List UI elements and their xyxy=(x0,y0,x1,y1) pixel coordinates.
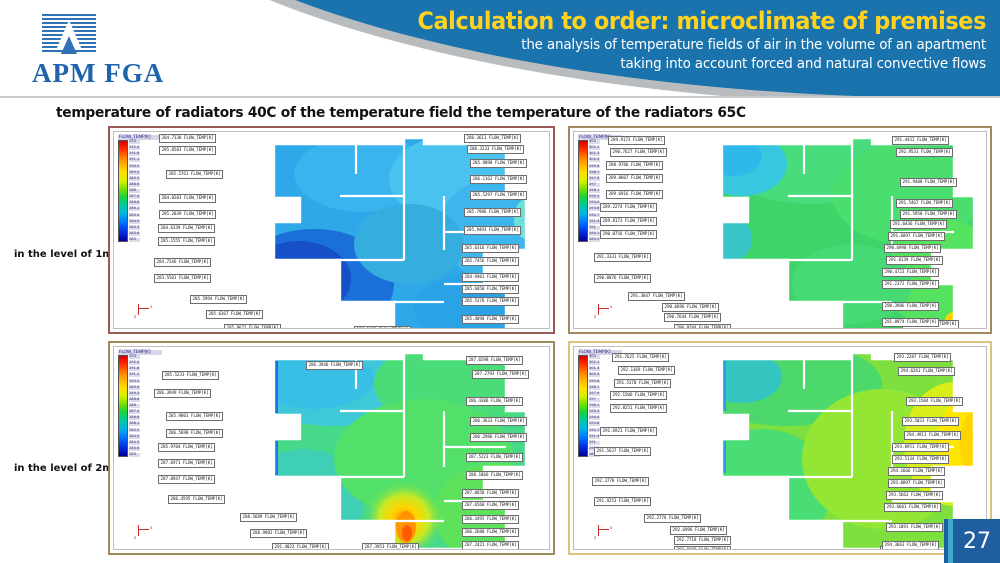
temperature-callout[interactable]: 286.4386 FLOW_TEMP[K] xyxy=(466,397,523,406)
temperature-callout[interactable]: 284.7246 FLOW_TEMP[K] xyxy=(154,258,211,267)
temperature-callout[interactable]: 291.5467 FLOW_TEMP[K] xyxy=(896,199,953,208)
temperature-callout[interactable]: 288.9786 FLOW_TEMP[K] xyxy=(606,161,663,170)
cfd-panel-canvas: FLOW_TEMP[K] 303 302.1 301.3 300.4 299.6… xyxy=(573,131,987,329)
legend-tick-list: 303 302.1 301.3 300.4 299.6 298.7 297.9 … xyxy=(589,140,600,242)
legend-tick: 298.7 xyxy=(589,171,600,175)
temperature-callout[interactable]: 285.5297 FLOW_TEMP[K] xyxy=(470,191,527,200)
cfd-panel-top-right[interactable]: FLOW_TEMP[K] 303 302.1 301.3 300.4 299.6… xyxy=(568,126,992,334)
legend-tick: 291.1 xyxy=(129,158,140,162)
slide-header: APM FGA Calculation to order: microclima… xyxy=(0,0,1000,98)
legend-tick: 301.3 xyxy=(589,367,600,371)
row-label-level-2m: in the level of 2m xyxy=(14,463,113,474)
legend-tick: 291.8 xyxy=(129,152,140,156)
temperature-callout[interactable]: 285.6050 FLOW_TEMP[K] xyxy=(462,285,519,294)
header-title-block: Calculation to order: microclimate of pr… xyxy=(266,6,986,74)
temperature-callout[interactable]: 291.6921 FLOW_TEMP[K] xyxy=(600,427,657,436)
temperature-callout[interactable]: 291.6897 FLOW_TEMP[K] xyxy=(888,232,945,241)
temperature-callout[interactable]: 285.7986 FLOW_TEMP[K] xyxy=(464,208,521,217)
legend-tick: 292.4 xyxy=(129,361,140,365)
temperature-callout[interactable]: 290.8076 FLOW_TEMP[K] xyxy=(594,274,651,283)
legend-tick: 292.7 xyxy=(589,429,600,433)
temperature-callout[interactable]: 291.7625 FLOW_TEMP[K] xyxy=(612,353,669,362)
temperature-callout[interactable]: 293.5663 FLOW_TEMP[K] xyxy=(886,491,943,500)
legend-tick: 289.9 xyxy=(129,386,140,390)
legend-tick: 295.3 xyxy=(589,410,600,414)
legend-tick: 286.1 xyxy=(129,207,140,211)
axis-triad-icon: x z xyxy=(132,523,154,541)
figure-caption: temperature of radiators 40C of the temp… xyxy=(56,105,746,121)
legend-tick: 303 xyxy=(589,140,600,144)
temperature-callout[interactable]: 292.7718 FLOW_TEMP[K] xyxy=(674,536,731,545)
temperature-callout[interactable]: 285.1555 FLOW_TEMP[K] xyxy=(158,237,215,246)
legend-tick: 291.8 xyxy=(129,367,140,371)
legend-tick: 285.5 xyxy=(129,429,140,433)
legend-tick: 288.6 xyxy=(129,183,140,187)
temperature-callout[interactable]: 291.8139 FLOW_TEMP[K] xyxy=(886,256,943,265)
legend-tick: 293 xyxy=(129,355,140,359)
temperature-callout[interactable]: 293.1891 FLOW_TEMP[K] xyxy=(886,523,943,532)
temperature-callout[interactable]: 289.8173 FLOW_TEMP[K] xyxy=(600,217,657,226)
temperature-callout[interactable]: 287.6971 FLOW_TEMP[K] xyxy=(158,459,215,468)
temperature-callout[interactable]: 293.1504 FLOW_TEMP[K] xyxy=(906,397,963,406)
temperature-callout[interactable]: 287.5223 FLOW_TEMP[K] xyxy=(466,453,523,462)
legend-tick: 286.8 xyxy=(129,416,140,420)
color-legend-bottom-left: FLOW_TEMP[K] 293 292.4 291.8 291.1 290.5… xyxy=(118,350,162,457)
temperature-callout[interactable]: 286.3233 FLOW_TEMP[K] xyxy=(467,145,524,154)
legend-tick: 283.6 xyxy=(129,232,140,236)
legend-colorbar xyxy=(118,355,128,457)
legend-tick: 290.5 xyxy=(129,380,140,384)
legend-tick: 284.3 xyxy=(129,441,140,445)
temperature-callout[interactable]: 285.9898 FLOW_TEMP[K] xyxy=(470,159,527,168)
legend-colorbar xyxy=(578,355,588,457)
temperature-callout[interactable]: 291.4023 FLOW_TEMP[K] xyxy=(272,543,329,550)
legend-tick: 285.5 xyxy=(129,214,140,218)
temperature-callout[interactable]: 285.7456 FLOW_TEMP[K] xyxy=(462,257,519,266)
page-subtitle-line-2: taking into account forced and natural c… xyxy=(316,55,986,74)
cfd-panel-bottom-left[interactable]: FLOW_TEMP[K] 293 292.4 291.8 291.1 290.5… xyxy=(108,341,555,555)
temperature-callout[interactable]: 294.6261 FLOW_TEMP[K] xyxy=(898,367,955,376)
legend-tick: 294.4 xyxy=(589,416,600,420)
legend-tick: 288.6 xyxy=(129,398,140,402)
temperature-callout[interactable]: 292.9531 FLOW_TEMP[K] xyxy=(896,148,953,157)
temperature-callout[interactable]: 294.1666 FLOW_TEMP[K] xyxy=(888,467,945,476)
axis-triad-icon: x z xyxy=(592,302,614,320)
legend-tick: 287.4 xyxy=(129,410,140,414)
legend-tick: 291 xyxy=(589,441,600,445)
temperature-callout[interactable]: 293.0897 FLOW_TEMP[K] xyxy=(888,479,945,488)
temperature-callout[interactable]: 287.2421 FLOW_TEMP[K] xyxy=(462,541,519,550)
temperature-callout[interactable]: 293.5134 FLOW_TEMP[K] xyxy=(892,455,949,464)
temperature-callout[interactable]: 286.4595 FLOW_TEMP[K] xyxy=(168,495,225,504)
temperature-callout[interactable]: 286.3633 FLOW_TEMP[K] xyxy=(470,417,527,426)
legend-tick: 290.5 xyxy=(129,165,140,169)
temperature-callout[interactable]: 290.9284 FLOW_TEMP[K] xyxy=(674,324,731,329)
header-divider xyxy=(0,96,1000,98)
legend-tick: 300.4 xyxy=(589,158,600,162)
temperature-callout[interactable]: 285.0583 FLOW_TEMP[K] xyxy=(159,146,216,155)
legend-tick: 298.7 xyxy=(589,386,600,390)
temperature-callout[interactable]: 286.1162 FLOW_TEMP[K] xyxy=(354,326,411,329)
temperature-callout[interactable]: 286.2986 FLOW_TEMP[K] xyxy=(470,433,527,442)
page-number-value: 27 xyxy=(963,529,991,554)
temperature-callout[interactable]: 287.6568 FLOW_TEMP[K] xyxy=(462,501,519,510)
legend-tick: 283.6 xyxy=(129,447,140,451)
legend-tick: 283 xyxy=(129,238,140,242)
legend-tick: 293.6 xyxy=(589,422,600,426)
legend-tick: 284.9 xyxy=(129,435,140,439)
legend-tick: 289.3 xyxy=(129,177,140,181)
legend-tick: 292.4 xyxy=(129,146,140,150)
temperature-callout[interactable]: 293.2287 FLOW_TEMP[K] xyxy=(894,353,951,362)
temperature-callout[interactable]: 289.8607 FLOW_TEMP[K] xyxy=(606,174,663,183)
legend-tick: 291.9 xyxy=(589,220,600,224)
temperature-callout[interactable]: 292.3778 FLOW_TEMP[K] xyxy=(592,477,649,486)
temperature-callout[interactable]: 287.2793 FLOW_TEMP[K] xyxy=(472,370,529,379)
temperature-callout[interactable]: 293.5031 FLOW_TEMP[K] xyxy=(902,417,959,426)
legend-tick: 289.3 xyxy=(589,238,600,242)
temperature-callout[interactable]: 287.6598 FLOW_TEMP[K] xyxy=(466,356,523,365)
temperature-callout[interactable]: 291.4431 FLOW_TEMP[K] xyxy=(892,136,949,145)
legend-tick: 289.9 xyxy=(129,171,140,175)
page-number-stripe xyxy=(948,519,953,563)
legend-tick: 302.1 xyxy=(589,361,600,365)
legend-tick-list: 293 292.4 291.8 291.1 290.5 289.9 289.3 … xyxy=(129,140,140,242)
legend-tick: 288 xyxy=(129,404,140,408)
legend-tick: 289.3 xyxy=(129,392,140,396)
legend-tick: 300.4 xyxy=(589,373,600,377)
temperature-callout[interactable]: 293.6601 FLOW_TEMP[K] xyxy=(884,503,941,512)
temperature-callout[interactable]: 285.5378 FLOW_TEMP[K] xyxy=(462,297,519,306)
legend-tick: 291 xyxy=(589,226,600,230)
temperature-callout[interactable]: 286.3611 FLOW_TEMP[K] xyxy=(464,134,521,143)
legend-tick: 286.1 xyxy=(129,422,140,426)
temperature-callout[interactable]: 294.4911 FLOW_TEMP[K] xyxy=(904,431,961,440)
cfd-panel-canvas: FLOW_TEMP[K] 293 292.4 291.8 291.1 290.5… xyxy=(113,346,550,550)
legend-colorbar xyxy=(118,140,128,242)
temperature-callout[interactable]: 286.2680 FLOW_TEMP[K] xyxy=(462,528,519,537)
temperature-callout[interactable]: 290.6696 FLOW_TEMP[K] xyxy=(662,303,719,312)
temperature-callout[interactable]: 286.3495 FLOW_TEMP[K] xyxy=(462,515,519,524)
temperature-callout[interactable]: 290.6990 FLOW_TEMP[K] xyxy=(884,244,941,253)
temperature-callout[interactable]: 292.8309 FLOW_TEMP[K] xyxy=(674,546,731,550)
legend-colorbar xyxy=(578,140,588,242)
temperature-callout[interactable]: 288.9982 FLOW_TEMP[K] xyxy=(250,529,307,538)
legend-tick: 292.7 xyxy=(589,214,600,218)
temperature-callout[interactable]: 285.9493 FLOW_TEMP[K] xyxy=(464,226,521,235)
temperature-callout[interactable]: 292.6996 FLOW_TEMP[K] xyxy=(670,526,727,535)
temperature-callout[interactable]: 291.5637 FLOW_TEMP[K] xyxy=(594,447,651,456)
temperature-callout[interactable]: 284.7130 FLOW_TEMP[K] xyxy=(159,134,216,143)
temperature-callout[interactable]: 286.5698 FLOW_TEMP[K] xyxy=(166,429,223,438)
temperature-callout[interactable]: 291.5950 FLOW_TEMP[K] xyxy=(900,210,957,219)
legend-tick: 291.9 xyxy=(589,435,600,439)
temperature-callout[interactable]: 294.3663 FLOW_TEMP[K] xyxy=(882,541,939,550)
color-legend-top-left: FLOW_TEMP[K] 293 292.4 291.8 291.1 290.5… xyxy=(118,135,162,242)
legend-tick: 296.1 xyxy=(589,404,600,408)
temperature-callout[interactable]: 285.9671 FLOW_TEMP[K] xyxy=(224,324,281,329)
axis-triad-icon: x z xyxy=(592,523,614,541)
legend-tick: 283 xyxy=(129,453,140,457)
legend-tick: 295.3 xyxy=(589,195,600,199)
row-label-level-1m: in the level of 1m xyxy=(14,249,113,260)
legend-tick: 302.1 xyxy=(589,146,600,150)
cfd-panel-bottom-right[interactable]: FLOW_TEMP[K] 303 302.1 301.3 300.4 299.6… xyxy=(568,341,992,555)
legend-tick: 297.9 xyxy=(589,392,600,396)
temperature-callout[interactable]: 284.9401 FLOW_TEMP[K] xyxy=(462,273,519,282)
temperature-callout[interactable]: 292.1506 FLOW_TEMP[K] xyxy=(610,391,667,400)
temperature-callout[interactable]: 289.9173 FLOW_TEMP[K] xyxy=(608,136,665,145)
temperature-callout[interactable]: 290.3986 FLOW_TEMP[K] xyxy=(882,302,939,311)
temperature-callout[interactable]: 291.9253 FLOW_TEMP[K] xyxy=(594,497,651,506)
temperature-callout[interactable]: 291.3847 FLOW_TEMP[K] xyxy=(628,292,685,301)
temperature-callout[interactable]: 288.1866 FLOW_TEMP[K] xyxy=(466,471,523,480)
temperature-callout[interactable]: 284.8283 FLOW_TEMP[K] xyxy=(159,194,216,203)
legend-tick: 301.3 xyxy=(589,152,600,156)
temperature-callout[interactable]: 289.6916 FLOW_TEMP[K] xyxy=(606,190,663,199)
temperature-callout[interactable]: 291.3331 FLOW_TEMP[K] xyxy=(594,253,651,262)
temperature-callout[interactable]: 292.8251 FLOW_TEMP[K] xyxy=(610,404,667,413)
temperature-callout[interactable]: 285.5233 FLOW_TEMP[K] xyxy=(162,371,219,380)
legend-tick: 291.1 xyxy=(129,373,140,377)
temperature-callout[interactable]: 288.5689 FLOW_TEMP[K] xyxy=(240,513,297,522)
temperature-callout[interactable]: 286.1162 FLOW_TEMP[K] xyxy=(470,175,527,184)
temperature-callout[interactable]: 285.2039 FLOW_TEMP[K] xyxy=(159,210,216,219)
temperature-callout[interactable]: 285.5994 FLOW_TEMP[K] xyxy=(190,295,247,304)
legend-tick: 284.9 xyxy=(129,220,140,224)
temperature-callout[interactable]: 290.4723 FLOW_TEMP[K] xyxy=(882,268,939,277)
legend-tick: 294.4 xyxy=(589,201,600,205)
temperature-callout[interactable]: 286.3949 FLOW_TEMP[K] xyxy=(154,389,211,398)
temperature-callout[interactable]: 285.6367 FLOW_TEMP[K] xyxy=(206,310,263,319)
legend-tick: 284.3 xyxy=(129,226,140,230)
legend-tick: 286.8 xyxy=(129,201,140,205)
temperature-callout[interactable]: 289.2274 FLOW_TEMP[K] xyxy=(600,203,657,212)
legend-tick: 296.1 xyxy=(589,189,600,193)
axis-triad-icon: x z xyxy=(132,302,154,320)
temperature-callout[interactable]: 290.7627 FLOW_TEMP[K] xyxy=(610,148,667,157)
cfd-panel-canvas: FLOW_TEMP[K] 293 292.4 291.8 291.1 290.5… xyxy=(113,131,550,329)
temperature-callout[interactable]: 287.0947 FLOW_TEMP[K] xyxy=(158,475,215,484)
company-logo: APM FGA xyxy=(32,14,212,90)
cfd-panel-top-left[interactable]: FLOW_TEMP[K] 293 292.4 291.8 291.1 290.5… xyxy=(108,126,555,334)
temperature-callout[interactable]: 285.5761 FLOW_TEMP[K] xyxy=(166,170,223,179)
legend-tick: 299.6 xyxy=(589,380,600,384)
temperature-callout[interactable]: 293.8951 FLOW_TEMP[K] xyxy=(892,443,949,452)
temperature-callout[interactable]: 291.9488 FLOW_TEMP[K] xyxy=(900,178,957,187)
temperature-callout[interactable]: 285.9704 FLOW_TEMP[K] xyxy=(158,443,215,452)
temperature-callout[interactable]: 283.5501 FLOW_TEMP[K] xyxy=(154,274,211,283)
temperature-callout[interactable]: 287.3953 FLOW_TEMP[K] xyxy=(362,543,419,550)
temperature-callout[interactable]: 291.8974 FLOW_TEMP[K] xyxy=(882,318,939,327)
temperature-callout[interactable]: 290.0756 FLOW_TEMP[K] xyxy=(600,230,657,239)
legend-tick: 297 xyxy=(589,398,600,402)
legend-tick: 299.6 xyxy=(589,165,600,169)
page-title: Calculation to order: microclimate of pr… xyxy=(316,6,986,36)
logo-text: APM FGA xyxy=(32,58,212,89)
temperature-callout[interactable]: 284.6339 FLOW_TEMP[K] xyxy=(158,224,215,233)
temperature-callout[interactable]: 291.5370 FLOW_TEMP[K] xyxy=(614,379,671,388)
legend-tick: 297.9 xyxy=(589,177,600,181)
legend-tick-list: 303 302.1 301.3 300.4 299.6 298.7 297.9 … xyxy=(589,355,600,457)
legend-tick: 288 xyxy=(129,189,140,193)
temperature-callout[interactable]: 292.2776 FLOW_TEMP[K] xyxy=(644,514,701,523)
temperature-callout[interactable]: 291.2372 FLOW_TEMP[K] xyxy=(882,280,939,289)
temperature-callout[interactable]: 285.4098 FLOW_TEMP[K] xyxy=(462,315,519,324)
temperature-callout[interactable]: 286.3946 FLOW_TEMP[K] xyxy=(306,361,363,370)
temperature-callout[interactable]: 290.7644 FLOW_TEMP[K] xyxy=(664,313,721,322)
cfd-panel-canvas: FLOW_TEMP[K] 303 302.1 301.3 300.4 299.6… xyxy=(573,346,987,550)
legend-tick: 293.6 xyxy=(589,207,600,211)
temperature-callout[interactable]: 292.1369 FLOW_TEMP[K] xyxy=(618,366,675,375)
legend-tick-list: 293 292.4 291.8 291.1 290.5 289.9 289.3 … xyxy=(129,355,140,457)
legend-tick: 303 xyxy=(589,355,600,359)
temperature-callout[interactable]: 287.8658 FLOW_TEMP[K] xyxy=(462,489,519,498)
legend-tick: 297 xyxy=(589,183,600,187)
temperature-callout[interactable]: 285.6316 FLOW_TEMP[K] xyxy=(462,244,519,253)
page-subtitle-line-1: the analysis of temperature fields of ai… xyxy=(316,36,986,55)
temperature-callout[interactable]: 285.9801 FLOW_TEMP[K] xyxy=(166,412,223,421)
temperature-callout[interactable]: 291.6436 FLOW_TEMP[K] xyxy=(890,220,947,229)
triangle-mountain-icon xyxy=(42,14,96,54)
page-number-badge: 27 xyxy=(944,519,1000,563)
legend-tick: 293 xyxy=(129,140,140,144)
legend-tick: 290.1 xyxy=(589,232,600,236)
legend-tick: 287.4 xyxy=(129,195,140,199)
